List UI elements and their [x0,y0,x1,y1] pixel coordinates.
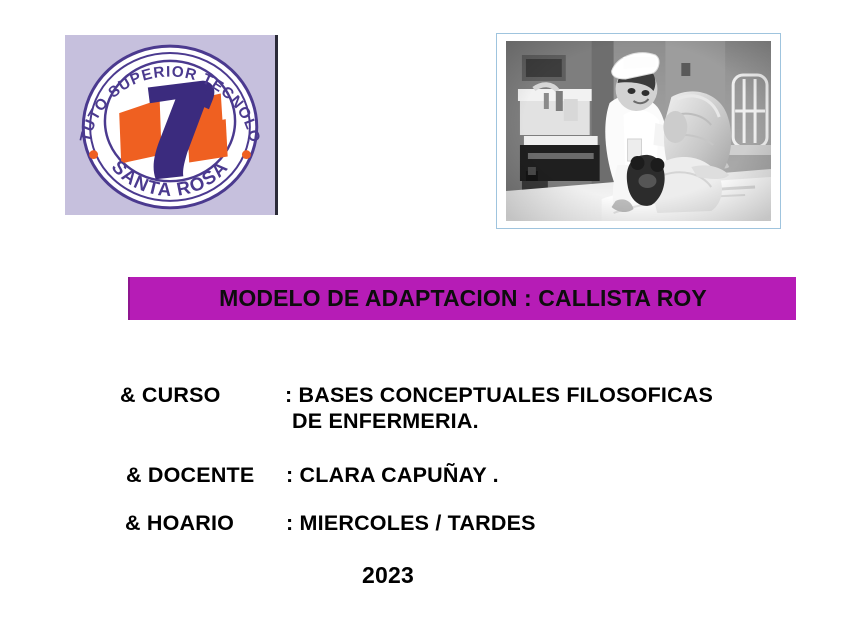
curso-label: & CURSO [120,384,285,407]
detail-row-curso: & CURSO: BASES CONCEPTUALES FILOSOFICAS [120,384,713,407]
logo-graphic: INSTITUTO SUPERIOR TECNOLOGICO SANTA ROS… [65,35,275,215]
institution-logo: INSTITUTO SUPERIOR TECNOLOGICO SANTA ROS… [65,35,278,215]
hoario-value: : MIERCOLES / TARDES [286,512,536,535]
docente-label: & DOCENTE [126,464,286,487]
title-banner: MODELO DE ADAPTACION : CALLISTA ROY [128,277,796,320]
detail-row-curso-continued: DE ENFERMERIA. [292,410,479,433]
photo-frame [496,33,781,229]
curso-value: : BASES CONCEPTUALES FILOSOFICAS [285,384,713,407]
slide-canvas: INSTITUTO SUPERIOR TECNOLOGICO SANTA ROS… [0,0,853,640]
curso-value-continued: DE ENFERMERIA. [292,410,479,433]
year-label: 2023 [362,563,414,588]
photo-image [506,41,771,221]
docente-value: : CLARA CAPUÑAY . [286,464,499,487]
hoario-label: & HOARIO [125,512,286,535]
nurse-with-child-patient-photo [506,41,771,221]
page-title: MODELO DE ADAPTACION : CALLISTA ROY [219,287,707,310]
detail-row-docente: & DOCENTE: CLARA CAPUÑAY . [126,464,499,487]
detail-row-hoario: & HOARIO: MIERCOLES / TARDES [125,512,536,535]
logo-dot-right [242,150,251,159]
logo-dot-left [89,150,98,159]
